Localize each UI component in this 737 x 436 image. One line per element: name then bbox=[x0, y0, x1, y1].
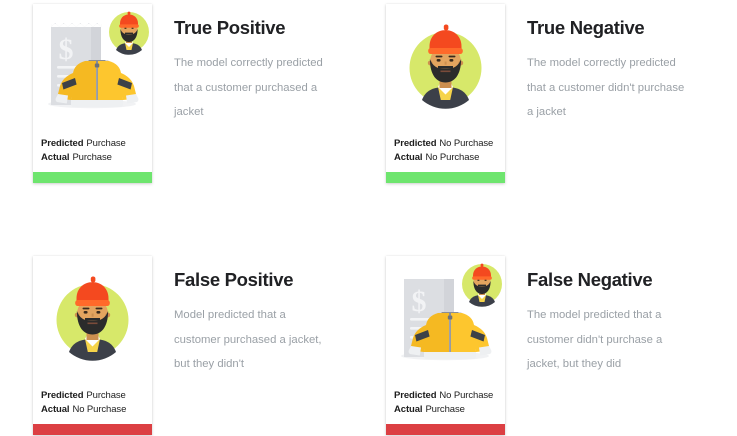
illustration-wrap: $ bbox=[386, 256, 505, 389]
card-labels: PredictedNo Purchase ActualPurchase bbox=[386, 389, 505, 424]
illustration-wrap bbox=[33, 256, 152, 389]
card-pair-false-positive: PredictedPurchase ActualNo Purchase Fals… bbox=[33, 256, 349, 435]
actual-label: Actual bbox=[394, 152, 422, 163]
predicted-value: Purchase bbox=[86, 138, 125, 149]
predicted-label: Predicted bbox=[41, 138, 83, 149]
accent-bar-red bbox=[33, 424, 152, 435]
card-text-column: True Negative The model correctly predic… bbox=[527, 4, 702, 125]
predicted-label: Predicted bbox=[41, 390, 83, 401]
predicted-label: Predicted bbox=[394, 138, 436, 149]
card-title: True Negative bbox=[527, 18, 702, 38]
card-labels: PredictedNo Purchase ActualNo Purchase bbox=[386, 137, 505, 172]
actual-value: No Purchase bbox=[72, 404, 126, 415]
card-description: The model correctly predicted that a cus… bbox=[527, 51, 687, 125]
actual-value: No Purchase bbox=[425, 152, 479, 163]
card-pair-true-positive: $ bbox=[33, 4, 349, 183]
confusion-matrix-card-grid: $ bbox=[0, 0, 737, 436]
card-body: PredictedPurchase ActualNo Purchase bbox=[33, 256, 152, 424]
card-true-positive[interactable]: $ bbox=[33, 4, 152, 183]
card-body: PredictedNo Purchase ActualNo Purchase bbox=[386, 4, 505, 172]
accent-bar-red bbox=[386, 424, 505, 435]
card-text-column: True Positive The model correctly predic… bbox=[174, 4, 349, 125]
actual-label: Actual bbox=[394, 404, 422, 415]
avatar-portrait-icon bbox=[386, 4, 505, 126]
actual-label: Actual bbox=[41, 404, 69, 415]
actual-value: Purchase bbox=[72, 152, 111, 163]
card-title: True Positive bbox=[174, 18, 349, 38]
card-description: The model correctly predicted that a cus… bbox=[174, 51, 326, 125]
card-true-negative[interactable]: PredictedNo Purchase ActualNo Purchase bbox=[386, 4, 505, 183]
predicted-value: Purchase bbox=[86, 390, 125, 401]
avatar-portrait-icon bbox=[33, 256, 152, 378]
predicted-value: No Purchase bbox=[439, 390, 493, 401]
actual-row: ActualNo Purchase bbox=[41, 403, 152, 417]
actual-row: ActualPurchase bbox=[41, 151, 152, 165]
illustration-wrap bbox=[386, 4, 505, 137]
card-labels: PredictedPurchase ActualNo Purchase bbox=[33, 389, 152, 424]
card-title: False Negative bbox=[527, 270, 702, 290]
card-pair-true-negative: PredictedNo Purchase ActualNo Purchase T… bbox=[386, 4, 702, 183]
illustration-wrap: $ bbox=[33, 4, 152, 137]
card-description: Model predicted that a customer purchase… bbox=[174, 303, 326, 377]
card-body: $ bbox=[386, 256, 505, 424]
actual-label: Actual bbox=[41, 152, 69, 163]
receipt-jacket-avatar-badge-icon: $ bbox=[386, 256, 505, 378]
card-pair-false-negative: $ bbox=[386, 256, 702, 435]
predicted-row: PredictedNo Purchase bbox=[394, 137, 505, 151]
actual-value: Purchase bbox=[425, 404, 464, 415]
receipt-jacket-avatar-badge-icon: $ bbox=[33, 4, 152, 126]
actual-row: ActualPurchase bbox=[394, 403, 505, 417]
card-body: $ bbox=[33, 4, 152, 172]
accent-bar-green bbox=[33, 172, 152, 183]
svg-text:$: $ bbox=[59, 33, 74, 66]
actual-row: ActualNo Purchase bbox=[394, 151, 505, 165]
card-description: The model predicted that a customer didn… bbox=[527, 303, 687, 377]
card-title: False Positive bbox=[174, 270, 349, 290]
predicted-row: PredictedPurchase bbox=[41, 137, 152, 151]
svg-text:$: $ bbox=[412, 285, 427, 318]
predicted-row: PredictedNo Purchase bbox=[394, 389, 505, 403]
card-false-positive[interactable]: PredictedPurchase ActualNo Purchase bbox=[33, 256, 152, 435]
predicted-row: PredictedPurchase bbox=[41, 389, 152, 403]
card-labels: PredictedPurchase ActualPurchase bbox=[33, 137, 152, 172]
card-text-column: False Positive Model predicted that a cu… bbox=[174, 256, 349, 377]
card-text-column: False Negative The model predicted that … bbox=[527, 256, 702, 377]
accent-bar-green bbox=[386, 172, 505, 183]
predicted-label: Predicted bbox=[394, 390, 436, 401]
predicted-value: No Purchase bbox=[439, 138, 493, 149]
card-false-negative[interactable]: $ bbox=[386, 256, 505, 435]
